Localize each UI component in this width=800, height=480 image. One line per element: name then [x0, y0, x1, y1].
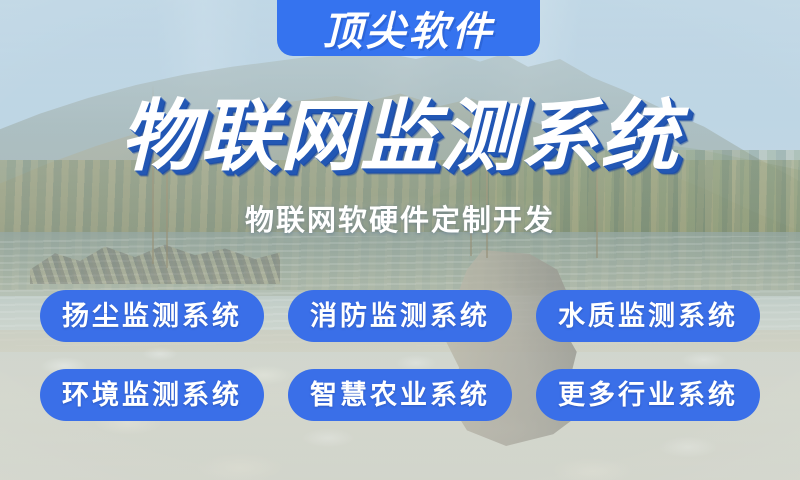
service-pill-label: 水质监测系统: [558, 303, 738, 330]
brand-badge: 顶尖软件: [277, 0, 540, 56]
page-title: 物联网监测系统: [0, 98, 800, 176]
service-pill-label: 更多行业系统: [558, 382, 738, 409]
service-pill-dust-monitoring[interactable]: 扬尘监测系统: [40, 290, 264, 342]
brand-badge-label: 顶尖软件: [323, 12, 495, 52]
service-pill-fire-monitoring[interactable]: 消防监测系统: [288, 290, 512, 342]
service-pill-label: 环境监测系统: [62, 382, 242, 409]
service-pill-water-quality-monitoring[interactable]: 水质监测系统: [536, 290, 760, 342]
service-pill-smart-agriculture[interactable]: 智慧农业系统: [288, 369, 512, 421]
service-pill-label: 扬尘监测系统: [62, 303, 242, 330]
service-pill-row-2: 环境监测系统 智慧农业系统 更多行业系统: [40, 369, 760, 421]
service-pill-label: 消防监测系统: [310, 303, 490, 330]
service-pill-row-1: 扬尘监测系统 消防监测系统 水质监测系统: [40, 290, 760, 342]
page-subtitle: 物联网软硬件定制开发: [0, 206, 800, 235]
service-pill-more-industries[interactable]: 更多行业系统: [536, 369, 760, 421]
service-pill-environment-monitoring[interactable]: 环境监测系统: [40, 369, 264, 421]
service-pill-label: 智慧农业系统: [310, 382, 490, 409]
promo-banner: 顶尖软件 物联网监测系统 物联网软硬件定制开发 扬尘监测系统 消防监测系统 水质…: [0, 0, 800, 480]
banner-content: 顶尖软件 物联网监测系统 物联网软硬件定制开发 扬尘监测系统 消防监测系统 水质…: [0, 0, 800, 480]
